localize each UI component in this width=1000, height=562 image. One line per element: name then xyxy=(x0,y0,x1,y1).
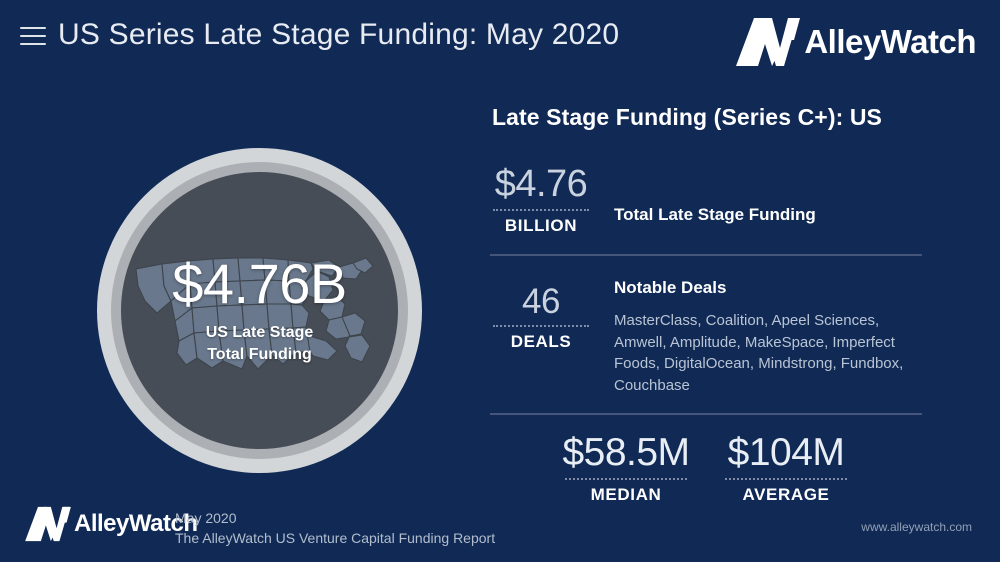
header-logo[interactable]: AlleyWatch xyxy=(732,14,976,70)
footer-logo[interactable]: AlleyWatch xyxy=(22,504,197,544)
stats-panel: Late Stage Funding (Series C+): US $4.76… xyxy=(486,104,926,505)
brand-name: AlleyWatch xyxy=(804,23,976,61)
header-bar: US Series Late Stage Funding: May 2020 A… xyxy=(0,0,1000,92)
medallion-disc xyxy=(121,172,398,449)
footer-text-group: May 2020 The AlleyWatch US Venture Capit… xyxy=(175,508,495,549)
footer-bar: AlleyWatch May 2020 The AlleyWatch US Ve… xyxy=(0,490,1000,562)
total-funding-value: $4.76 xyxy=(486,165,596,205)
stat-dotted-rule xyxy=(493,325,589,327)
median-value: $58.5M xyxy=(546,433,706,474)
slide-root: US Series Late Stage Funding: May 2020 A… xyxy=(0,0,1000,562)
alleywatch-monogram-icon xyxy=(732,14,804,70)
notable-deals-body: Notable Deals MasterClass, Coalition, Ap… xyxy=(614,278,920,397)
deals-count-stat: 46 DEALS xyxy=(486,278,596,352)
menu-bar-2 xyxy=(20,35,46,37)
deals-count-unit: DEALS xyxy=(486,332,596,352)
panel-divider-bottom xyxy=(490,413,922,415)
notable-deals-title: Notable Deals xyxy=(614,278,920,298)
total-funding-stat: $4.76 BILLION xyxy=(486,165,596,236)
total-funding-unit: BILLION xyxy=(486,216,596,236)
stat-dotted-rule xyxy=(493,209,589,211)
footer-report-title: The AlleyWatch US Venture Capital Fundin… xyxy=(175,528,495,548)
total-funding-description: Total Late Stage Funding xyxy=(614,205,816,225)
panel-heading: Late Stage Funding (Series C+): US xyxy=(492,104,926,131)
total-funding-row: $4.76 BILLION Total Late Stage Funding xyxy=(486,165,926,236)
notable-deals-row: 46 DEALS Notable Deals MasterClass, Coal… xyxy=(486,278,926,397)
alleywatch-monogram-icon xyxy=(22,504,74,544)
stat-dotted-rule xyxy=(565,478,687,480)
menu-bar-1 xyxy=(20,27,46,29)
footer-date: May 2020 xyxy=(175,508,495,528)
notable-deals-list: MasterClass, Coalition, Apeel Sciences, … xyxy=(614,310,920,397)
footer-url[interactable]: www.alleywatch.com xyxy=(861,520,972,534)
average-value: $104M xyxy=(706,433,866,474)
panel-divider-top xyxy=(490,254,922,256)
united-states-map-icon xyxy=(127,238,392,388)
hamburger-menu-icon[interactable] xyxy=(20,27,46,47)
page-title: US Series Late Stage Funding: May 2020 xyxy=(58,18,619,52)
us-map-medallion: $4.76B US Late Stage Total Funding xyxy=(97,148,422,473)
menu-bar-3 xyxy=(20,43,46,45)
deals-count-value: 46 xyxy=(486,284,596,321)
stat-dotted-rule xyxy=(725,478,847,480)
